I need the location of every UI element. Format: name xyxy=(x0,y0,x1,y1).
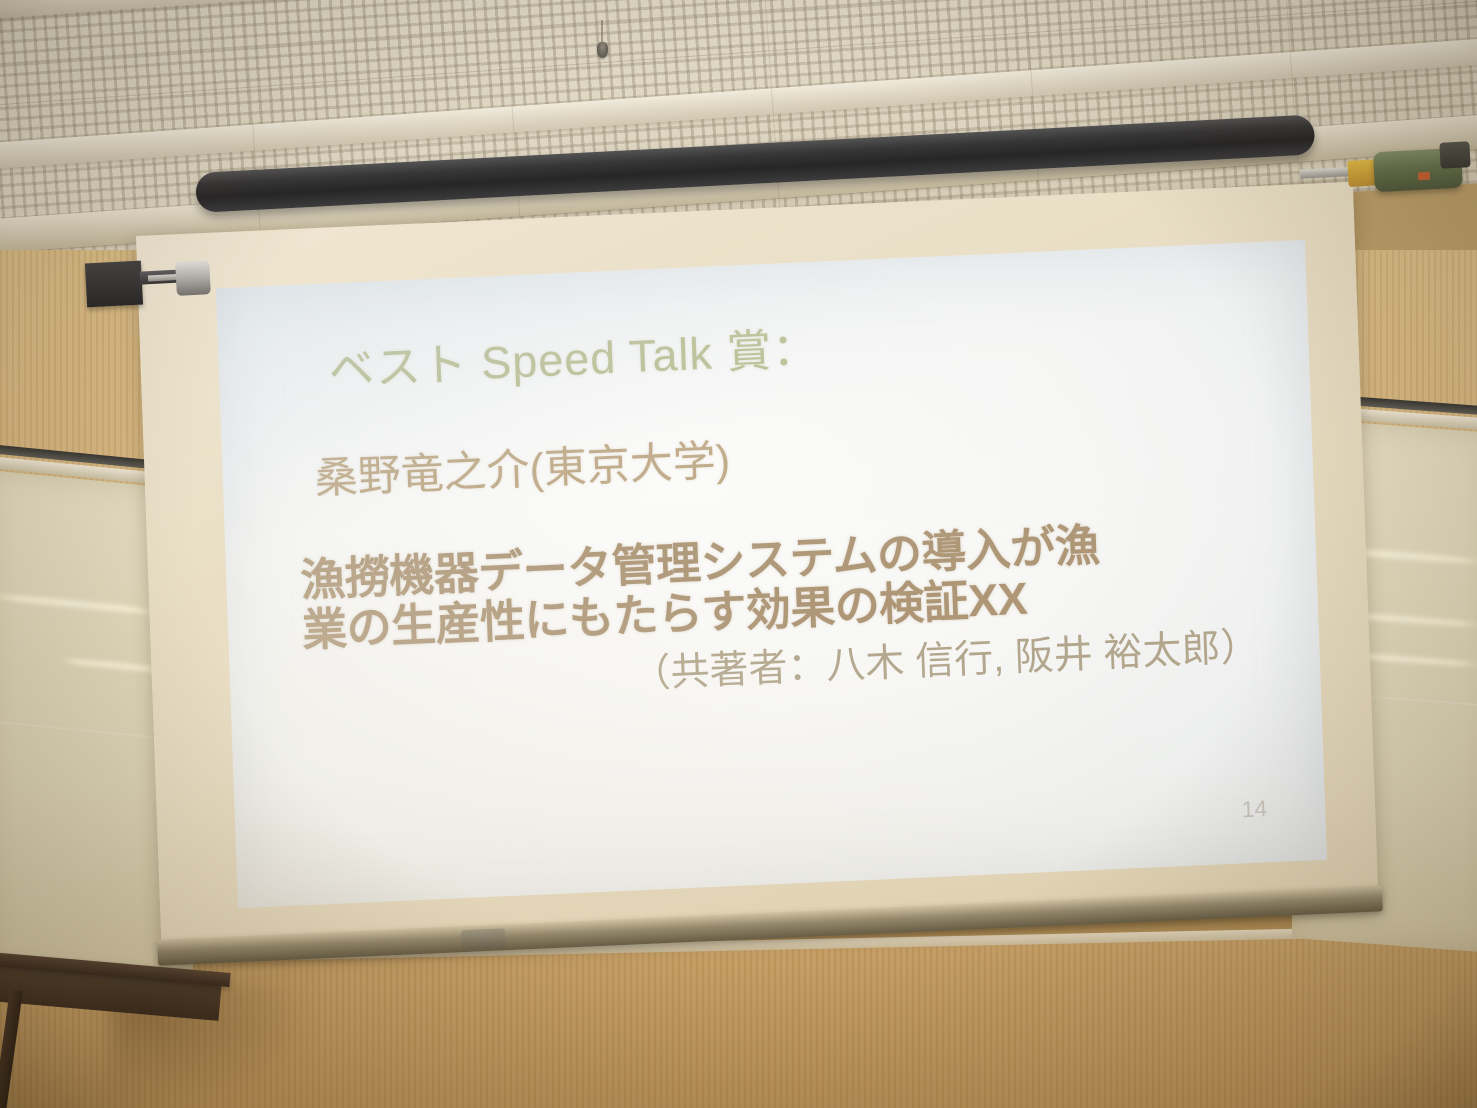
slide-content: ベスト Speed Talk 賞： 桑野竜之介(東京大学) 漁撈機器データ管理シ… xyxy=(216,240,1327,908)
lecture-hall-photo: ベスト Speed Talk 賞： 桑野竜之介(東京大学) 漁撈機器データ管理シ… xyxy=(0,0,1477,1108)
motor-cap xyxy=(1439,141,1470,169)
sprinkler-icon xyxy=(597,42,608,58)
slide-presenter-name: 桑野竜之介(東京大学) xyxy=(314,414,1259,503)
slide-page-number: 14 xyxy=(1241,795,1268,823)
roller-end-cap xyxy=(175,260,211,296)
screen-mount-bracket xyxy=(85,261,143,308)
screen-surface: ベスト Speed Talk 賞： 桑野竜之介(東京大学) 漁撈機器データ管理シ… xyxy=(216,240,1327,908)
motor-label xyxy=(1418,172,1430,181)
projection-screen: ベスト Speed Talk 賞： 桑野竜之介(東京大学) 漁撈機器データ管理シ… xyxy=(136,182,1379,962)
board-glare xyxy=(0,592,164,617)
screen-bar-center-joint xyxy=(461,928,506,950)
slide-heading: ベスト Speed Talk 賞： xyxy=(328,304,1255,395)
ceiling-tile-divider xyxy=(1277,0,1301,196)
